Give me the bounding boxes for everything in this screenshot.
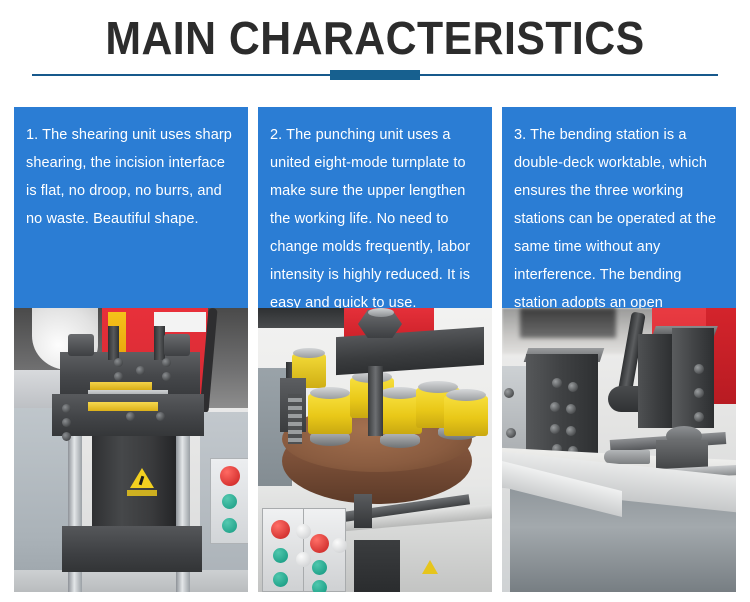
photo1-screw xyxy=(62,404,71,413)
feature-photo-2 xyxy=(258,308,492,592)
photo1-screw xyxy=(62,432,71,441)
photo1-screw xyxy=(114,372,123,381)
photo3-screw xyxy=(694,412,704,422)
photo1-yellow-blade-lower xyxy=(88,402,158,411)
photo1-yellow-blade-upper xyxy=(90,382,152,390)
photo2-white-button-3 xyxy=(332,538,347,553)
photo1-green-button-1 xyxy=(222,494,237,509)
photo3-screw xyxy=(566,404,576,414)
photo1-warning-triangle-icon xyxy=(130,468,154,490)
feature-text-1: 1. The shearing unit uses sharp shearing… xyxy=(26,121,236,233)
photo3-screw xyxy=(566,426,576,436)
photo1-screw xyxy=(156,412,165,421)
feature-card-1: 1. The shearing unit uses sharp shearing… xyxy=(14,107,248,308)
photo3-right-die-2 xyxy=(672,328,714,428)
feature-card-2: 2. The punching unit uses a united eight… xyxy=(258,107,492,308)
photo2-warning-triangle-icon xyxy=(422,560,438,574)
photo1-bolt-rod-1 xyxy=(108,326,119,360)
photo2-white-button-1 xyxy=(296,524,311,539)
photo3-blurred-dark-object xyxy=(520,308,616,338)
photo1-screw xyxy=(136,366,145,375)
photo3-right-die-1 xyxy=(638,334,674,428)
photo3-screw xyxy=(568,382,578,392)
photo1-bolt-cap-2 xyxy=(164,334,190,356)
feature-card-3: 3. The bending station is a double-deck … xyxy=(502,107,736,308)
photo1-screw xyxy=(62,418,71,427)
photo1-emergency-stop-button xyxy=(220,466,240,486)
photo2-emergency-stop-button-1 xyxy=(271,520,290,539)
photo2-emergency-stop-button-2 xyxy=(310,534,329,553)
photo3-screw xyxy=(504,388,514,398)
photo2-yellow-die-1 xyxy=(308,394,352,434)
photo3-screw xyxy=(506,428,516,438)
feature-column-3: 3. The bending station is a double-deck … xyxy=(502,107,736,592)
photo2-nut-top xyxy=(368,308,394,317)
photo1-bolt-cap-1 xyxy=(68,334,94,356)
photo3-tool-hook xyxy=(604,450,650,464)
feature-text-2: 2. The punching unit uses a united eight… xyxy=(270,121,480,308)
photo2-control-panel-divider xyxy=(303,508,304,592)
photo3-screw xyxy=(550,424,560,434)
photo1-warning-caption xyxy=(127,490,157,496)
photo3-screw xyxy=(552,378,562,388)
feature-text-3: 3. The bending station is a double-deck … xyxy=(514,121,724,308)
photo3-screw xyxy=(550,402,560,412)
photo3-screw xyxy=(694,388,704,398)
shearing-unit-photo xyxy=(14,308,248,592)
photo2-white-button-2 xyxy=(296,552,311,567)
photo2-die-base xyxy=(380,432,420,448)
photo2-spring xyxy=(288,394,302,444)
photo2-dark-leg xyxy=(354,540,400,592)
header-divider-accent-block xyxy=(330,70,420,80)
photo2-green-button-4 xyxy=(312,580,327,592)
photo2-green-button-3 xyxy=(312,560,327,575)
photo1-base-block xyxy=(62,526,202,572)
bending-station-photo xyxy=(502,308,736,592)
feature-columns: 1. The shearing unit uses sharp shearing… xyxy=(14,107,736,592)
photo1-screw xyxy=(114,358,123,367)
photo2-ram-rod xyxy=(368,366,383,436)
page-root: MAIN CHARACTERISTICS 1. The shearing uni… xyxy=(0,0,750,602)
photo1-floor xyxy=(14,570,248,592)
photo1-screw xyxy=(162,358,171,367)
photo1-screw xyxy=(126,412,135,421)
photo2-green-button-2 xyxy=(273,572,288,587)
punching-unit-photo xyxy=(258,308,492,592)
photo3-screw xyxy=(694,364,704,374)
photo2-gauge-block xyxy=(354,494,372,528)
feature-photo-3 xyxy=(502,308,736,592)
photo1-screw xyxy=(162,372,171,381)
photo3-left-die xyxy=(526,354,598,462)
photo1-green-button-2 xyxy=(222,518,237,533)
feature-column-2: 2. The punching unit uses a united eight… xyxy=(258,107,492,592)
header: MAIN CHARACTERISTICS xyxy=(0,0,750,100)
photo2-yellow-die-5 xyxy=(444,396,488,436)
feature-photo-1 xyxy=(14,308,248,592)
photo2-green-button-1 xyxy=(273,548,288,563)
feature-column-1: 1. The shearing unit uses sharp shearing… xyxy=(14,107,248,592)
page-title: MAIN CHARACTERISTICS xyxy=(26,10,724,66)
